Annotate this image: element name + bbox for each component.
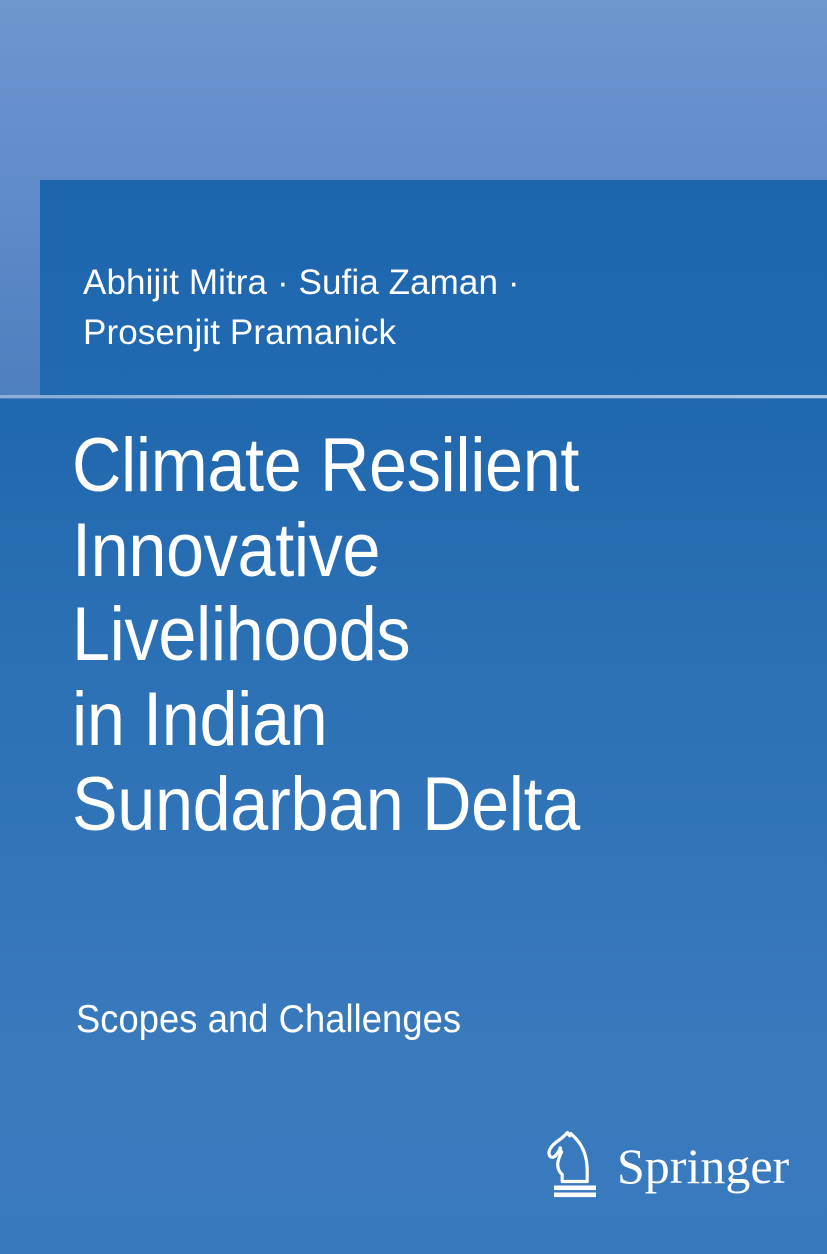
book-title: Climate Resilient Innovative Livelihoods… <box>72 424 729 848</box>
title-line-2: Innovative <box>72 509 729 594</box>
title-line-4: in Indian <box>72 678 729 763</box>
author-line-1: Abhijit Mitra · Sufia Zaman · <box>83 263 520 302</box>
title-line-5: Sundarban Delta <box>72 763 729 848</box>
horizontal-divider <box>0 395 827 398</box>
publisher-name: Springer <box>617 1141 789 1191</box>
title-line-3: Livelihoods <box>72 593 729 678</box>
book-cover: Abhijit Mitra · Sufia Zaman · Prosenjit … <box>0 0 827 1254</box>
book-subtitle: Scopes and Challenges <box>76 998 461 1042</box>
author-list: Abhijit Mitra · Sufia Zaman · Prosenjit … <box>83 258 763 358</box>
publisher-logo: Springer <box>543 1118 758 1208</box>
author-line-2: Prosenjit Pramanick <box>83 313 396 352</box>
title-line-1: Climate Resilient <box>72 424 729 509</box>
springer-knight-icon <box>543 1126 607 1200</box>
